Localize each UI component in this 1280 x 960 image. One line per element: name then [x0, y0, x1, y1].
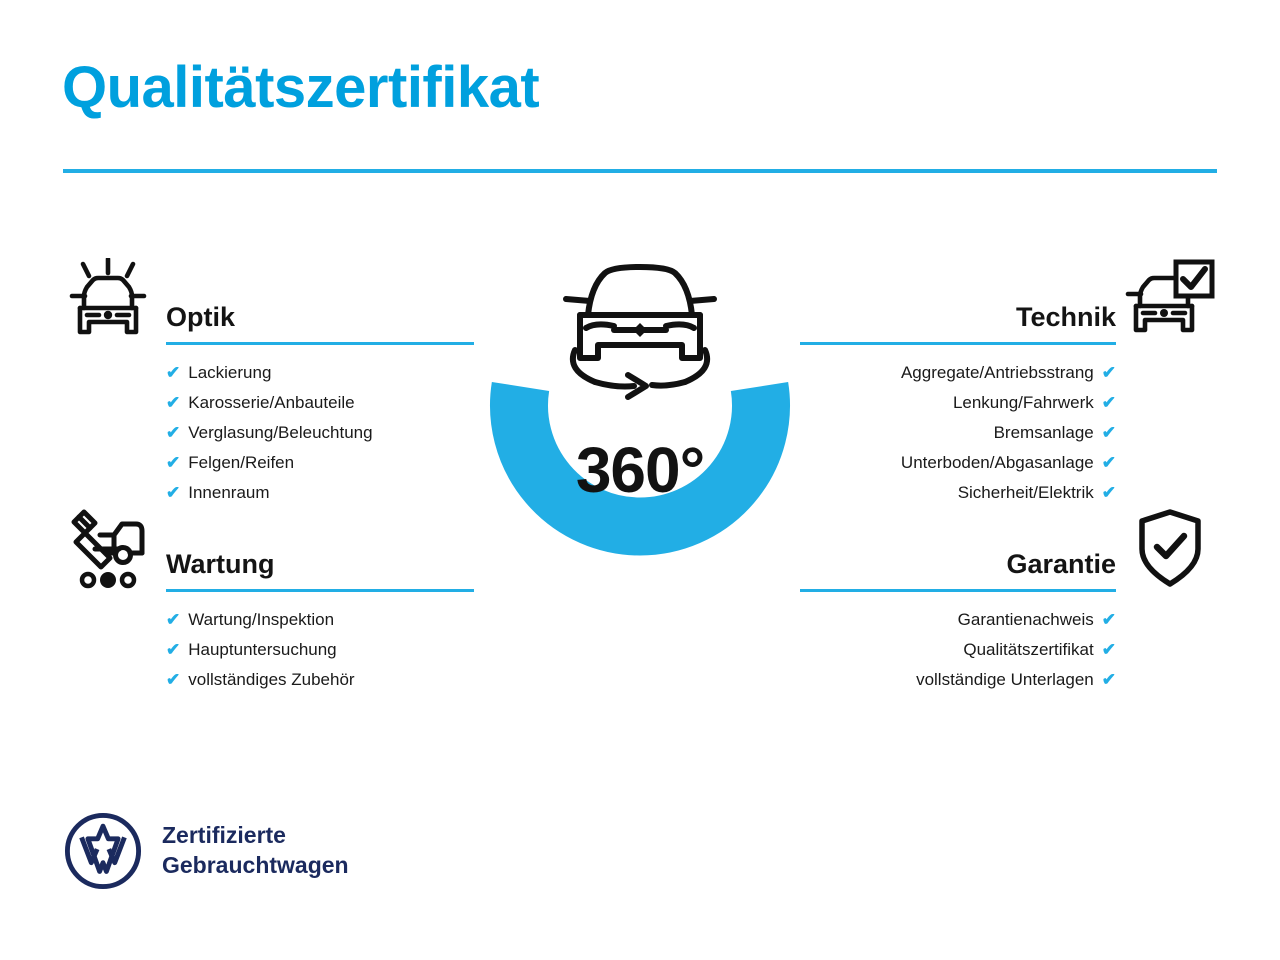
- section-title-optik: Optik: [166, 258, 474, 331]
- footer-text: Zertifizierte Gebrauchtwagen: [162, 821, 349, 881]
- list-item-label: vollständiges Zubehör: [188, 665, 354, 695]
- section-underline: [166, 342, 474, 345]
- section-optik: Optik ✔Lackierung ✔Karosserie/Anbauteile…: [62, 258, 474, 508]
- check-icon: ✔: [166, 418, 180, 448]
- check-icon: ✔: [166, 448, 180, 478]
- check-icon: ✔: [1102, 635, 1116, 665]
- list-item: Aggregate/Antriebsstrang✔: [800, 358, 1116, 388]
- vw-logo: [64, 812, 142, 890]
- list-item: ✔Karosserie/Anbauteile: [166, 388, 474, 418]
- check-icon: ✔: [166, 605, 180, 635]
- list-item-label: Wartung/Inspektion: [188, 605, 334, 635]
- list-item: Garantienachweis✔: [800, 605, 1116, 635]
- vw-certified-lockup: Zertifizierte Gebrauchtwagen: [64, 812, 349, 890]
- section-technik: Technik Aggregate/Antriebsstrang✔ Lenkun…: [800, 258, 1216, 508]
- checklist-optik: ✔Lackierung ✔Karosserie/Anbauteile ✔Verg…: [166, 358, 474, 508]
- list-item-label: Verglasung/Beleuchtung: [188, 418, 372, 448]
- check-icon: ✔: [166, 478, 180, 508]
- checklist-technik: Aggregate/Antriebsstrang✔ Lenkung/Fahrwe…: [800, 358, 1116, 508]
- list-item: ✔Hauptuntersuchung: [166, 635, 474, 665]
- list-item: Unterboden/Abgasanlage✔: [800, 448, 1116, 478]
- check-icon: ✔: [1102, 358, 1116, 388]
- list-item-label: Lenkung/Fahrwerk: [953, 388, 1094, 418]
- car-checkbox-icon: [1124, 258, 1216, 344]
- section-garantie: Garantie Garantienachweis✔ Qualitätszert…: [800, 505, 1216, 695]
- list-item-label: Hauptuntersuchung: [188, 635, 336, 665]
- list-item: ✔Verglasung/Beleuchtung: [166, 418, 474, 448]
- list-item-label: Bremsanlage: [994, 418, 1094, 448]
- section-header: Technik: [800, 258, 1216, 344]
- check-icon: ✔: [166, 358, 180, 388]
- list-item-label: Unterboden/Abgasanlage: [901, 448, 1094, 478]
- check-icon: ✔: [166, 665, 180, 695]
- list-item-label: Garantienachweis: [958, 605, 1094, 635]
- list-item: ✔Lackierung: [166, 358, 474, 388]
- list-item: ✔Innenraum: [166, 478, 474, 508]
- shield-check-icon: [1124, 505, 1216, 591]
- checklist-garantie: Garantienachweis✔ Qualitätszertifikat✔ v…: [800, 605, 1116, 695]
- list-item-label: Karosserie/Anbauteile: [188, 388, 354, 418]
- check-icon: ✔: [1102, 478, 1116, 508]
- list-item: Qualitätszertifikat✔: [800, 635, 1116, 665]
- list-item: Bremsanlage✔: [800, 418, 1116, 448]
- list-item: Lenkung/Fahrwerk✔: [800, 388, 1116, 418]
- list-item-label: Lackierung: [188, 358, 271, 388]
- check-icon: ✔: [1102, 605, 1116, 635]
- checklist-wartung: ✔Wartung/Inspektion ✔Hauptuntersuchung ✔…: [166, 605, 474, 695]
- list-item-label: Sicherheit/Elektrik: [958, 478, 1094, 508]
- footer-line-1: Zertifizierte: [162, 821, 349, 851]
- section-underline: [800, 589, 1116, 592]
- section-wartung: Wartung ✔Wartung/Inspektion ✔Hauptunters…: [62, 505, 474, 695]
- list-item-label: Aggregate/Antriebsstrang: [901, 358, 1094, 388]
- check-icon: ✔: [166, 635, 180, 665]
- list-item: Sicherheit/Elektrik✔: [800, 478, 1116, 508]
- badge-360-gebrauchtwagen-check: Gebrauchtwagen-Check 360°: [462, 246, 818, 626]
- section-underline: [800, 342, 1116, 345]
- check-icon: ✔: [166, 388, 180, 418]
- footer-line-2: Gebrauchtwagen: [162, 851, 349, 881]
- list-item-label: Qualitätszertifikat: [963, 635, 1093, 665]
- check-icon: ✔: [1102, 388, 1116, 418]
- check-icon: ✔: [1102, 448, 1116, 478]
- list-item: ✔vollständiges Zubehör: [166, 665, 474, 695]
- car-shine-icon: [62, 258, 154, 344]
- section-header: Garantie: [800, 505, 1216, 591]
- list-item: vollständige Unterlagen✔: [800, 665, 1116, 695]
- list-item-label: vollständige Unterlagen: [916, 665, 1094, 695]
- pencil-car-service-icon: [62, 505, 154, 591]
- page-title: Qualitätszertifikat: [62, 58, 539, 119]
- title-divider: [63, 169, 1217, 173]
- car-rotation-icon: [566, 267, 714, 397]
- section-title-wartung: Wartung: [166, 505, 474, 578]
- list-item-label: Innenraum: [188, 478, 269, 508]
- section-header: Wartung: [62, 505, 474, 591]
- check-icon: ✔: [1102, 418, 1116, 448]
- check-icon: ✔: [1102, 665, 1116, 695]
- badge-value: 360°: [462, 438, 818, 502]
- list-item: ✔Wartung/Inspektion: [166, 605, 474, 635]
- section-title-technik: Technik: [800, 258, 1116, 331]
- list-item: ✔Felgen/Reifen: [166, 448, 474, 478]
- list-item-label: Felgen/Reifen: [188, 448, 294, 478]
- section-underline: [166, 589, 474, 592]
- section-title-garantie: Garantie: [800, 505, 1116, 578]
- section-header: Optik: [62, 258, 474, 344]
